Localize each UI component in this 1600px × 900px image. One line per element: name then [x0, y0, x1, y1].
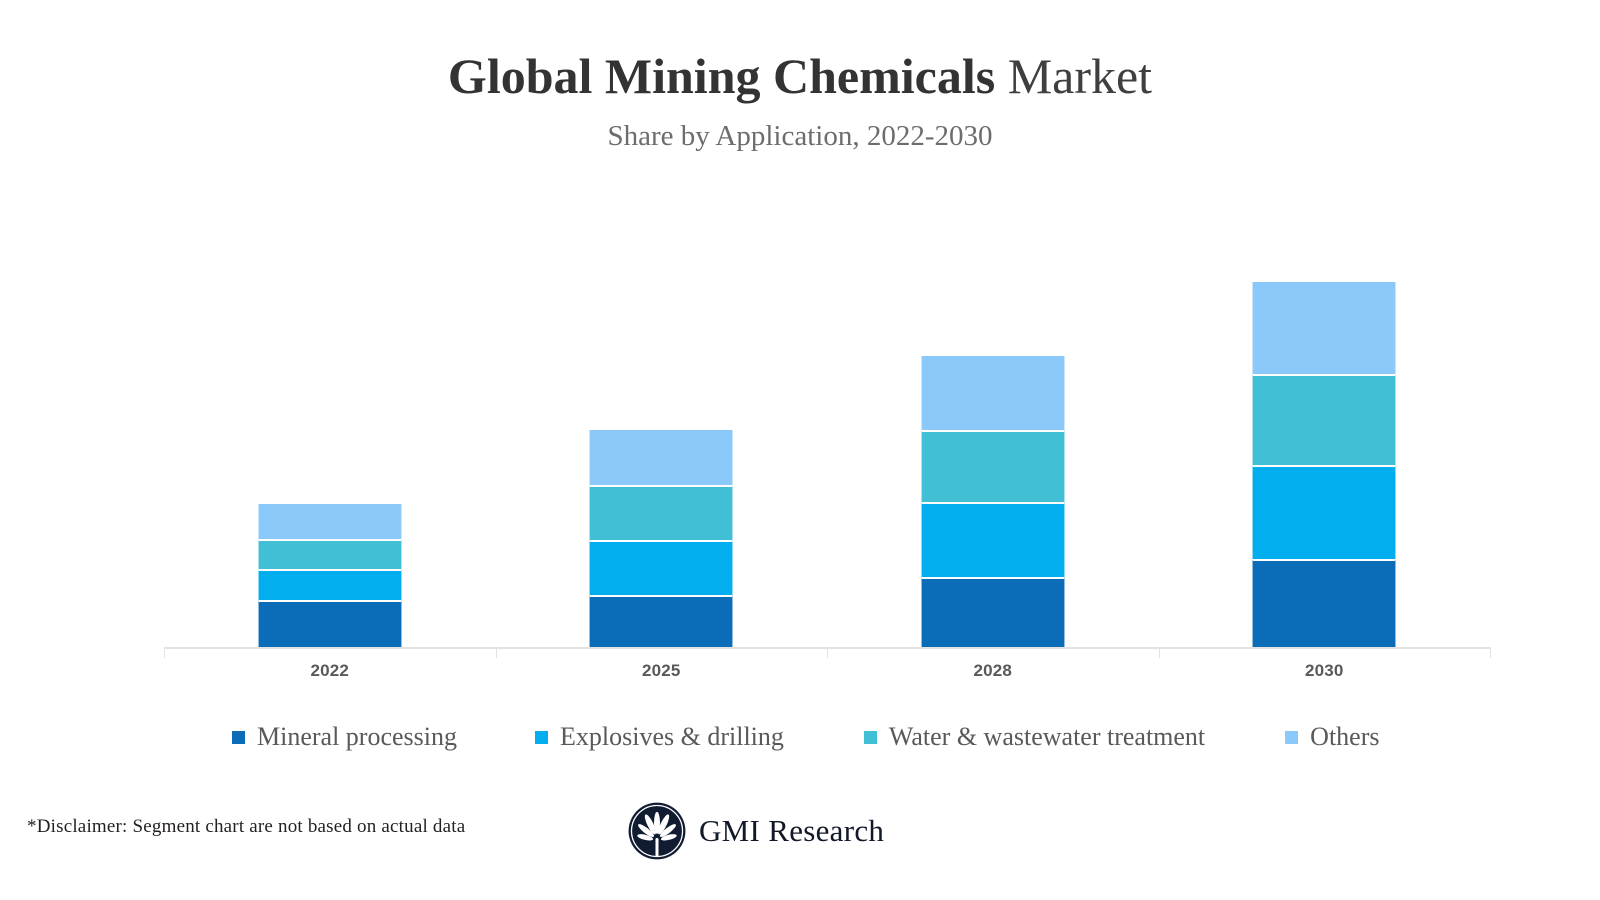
bar-segment[interactable]	[258, 504, 402, 539]
chart-page: Global Mining Chemicals Market Share by …	[0, 0, 1600, 900]
legend-label: Others	[1310, 722, 1379, 752]
bar-segment[interactable]	[258, 600, 402, 647]
legend-swatch-icon	[864, 731, 877, 744]
bar-stack[interactable]	[1252, 282, 1396, 647]
page-subtitle: Share by Application, 2022-2030	[0, 116, 1600, 156]
x-axis-label-2028: 2028	[827, 651, 1159, 681]
bar-stack[interactable]	[921, 356, 1065, 647]
page-title: Global Mining Chemicals Market	[0, 44, 1600, 108]
chart-legend: Mineral processingExplosives & drillingW…	[196, 722, 1496, 752]
legend-swatch-icon	[535, 731, 548, 744]
bar-segment[interactable]	[589, 540, 733, 595]
bar-segment[interactable]	[1252, 282, 1396, 374]
bar-group	[164, 190, 496, 647]
bar-segment[interactable]	[921, 356, 1065, 430]
bar-series-container	[164, 190, 1490, 647]
legend-item[interactable]: Explosives & drilling	[535, 722, 784, 752]
bar-group	[496, 190, 828, 647]
bar-segment[interactable]	[258, 569, 402, 600]
bar-segment[interactable]	[921, 577, 1065, 647]
legend-item[interactable]: Mineral processing	[232, 722, 457, 752]
bar-segment[interactable]	[589, 485, 733, 540]
legend-item[interactable]: Others	[1285, 722, 1379, 752]
disclaimer-text: *Disclaimer: Segment chart are not based…	[27, 816, 465, 838]
page-title-light: Market	[1008, 48, 1152, 104]
bar-stack[interactable]	[589, 430, 733, 647]
legend-swatch-icon	[232, 731, 245, 744]
brand-lockup: GMI Research	[628, 802, 884, 860]
bar-segment[interactable]	[1252, 374, 1396, 465]
legend-label: Mineral processing	[257, 722, 457, 752]
x-axis-label-2022: 2022	[164, 651, 496, 681]
bar-segment[interactable]	[1252, 559, 1396, 647]
bar-segment[interactable]	[589, 595, 733, 647]
legend-item[interactable]: Water & wastewater treatment	[864, 722, 1205, 752]
bar-segment[interactable]	[921, 502, 1065, 577]
legend-swatch-icon	[1285, 731, 1298, 744]
plot-area	[164, 190, 1490, 649]
x-axis-tick	[1490, 647, 1491, 658]
bar-segment[interactable]	[1252, 465, 1396, 559]
x-axis-category-labels: 2022202520282030	[164, 651, 1490, 681]
bar-segment[interactable]	[921, 430, 1065, 502]
gmi-fan-logo-icon	[628, 802, 686, 860]
brand-name: GMI Research	[699, 813, 884, 849]
legend-label: Explosives & drilling	[560, 722, 784, 752]
title-block: Global Mining Chemicals Market Share by …	[0, 44, 1600, 156]
bar-segment[interactable]	[589, 430, 733, 485]
bar-group	[1159, 190, 1491, 647]
bar-stack[interactable]	[258, 504, 402, 647]
page-title-strong: Global Mining Chemicals	[448, 48, 995, 104]
x-axis-label-2030: 2030	[1159, 651, 1491, 681]
bar-segment[interactable]	[258, 539, 402, 569]
legend-label: Water & wastewater treatment	[889, 722, 1205, 752]
x-axis-label-2025: 2025	[496, 651, 828, 681]
bar-group	[827, 190, 1159, 647]
